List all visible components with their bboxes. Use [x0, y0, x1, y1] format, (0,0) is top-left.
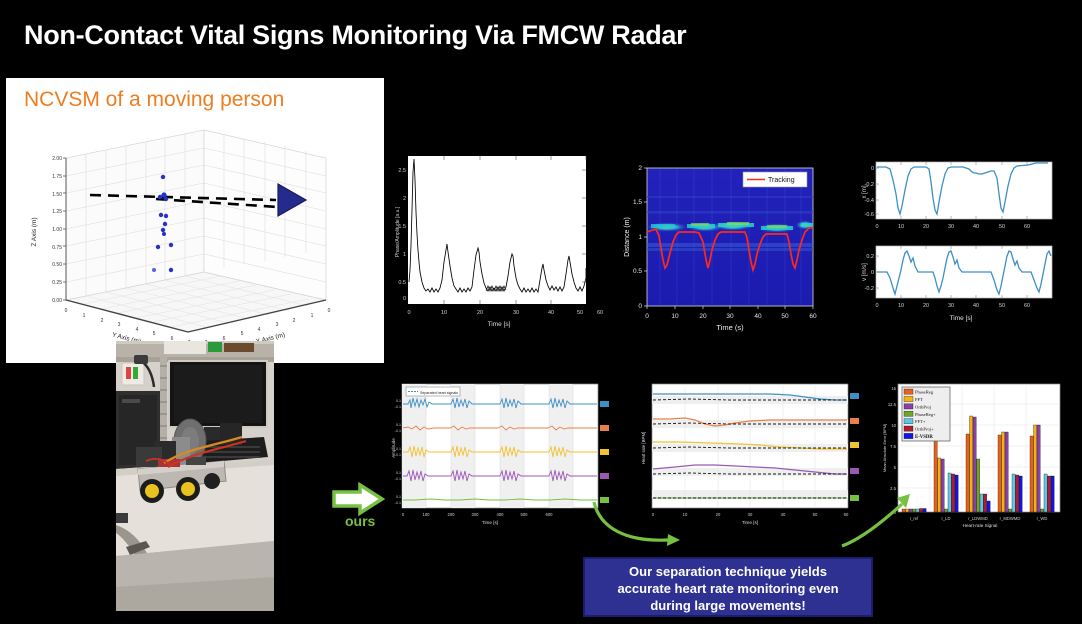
svg-text:2.00: 2.00 — [52, 156, 62, 162]
svg-text:0.25: 0.25 — [52, 280, 62, 286]
range-time-spectrogram-chart: Tracking 00.5 11.52 01020 304050 60 — [615, 150, 855, 334]
svg-text:0: 0 — [65, 308, 68, 314]
svg-text:30: 30 — [748, 512, 753, 517]
svg-text:2: 2 — [101, 318, 104, 324]
svg-text:1: 1 — [638, 234, 642, 241]
svg-text:0.1: 0.1 — [396, 495, 401, 499]
range-profile-chart: 2.5 2 1.5 1 0.5 0 0 10 20 30 40 50 60 Ti… — [392, 150, 607, 332]
bar-xtick-3: r_MDWMD — [1000, 516, 1021, 521]
axis-label-y: Phase/Amplitude [a.u.] — [395, 206, 401, 257]
heart-rate-estimates-chart: 01020 304050 60 Time [s] Heart rate [BPM… — [640, 378, 862, 526]
svg-text:0.5: 0.5 — [398, 280, 406, 286]
svg-text:400: 400 — [497, 512, 505, 517]
svg-text:60: 60 — [1024, 224, 1030, 230]
bar-xtick-2: r_LDWMD — [968, 516, 988, 521]
svg-text:0: 0 — [638, 303, 642, 310]
axis-label-x: Time [s] — [488, 321, 511, 328]
legend-label-1: FFT — [915, 397, 923, 402]
axis-label-x-velocity: Time [s] — [950, 315, 973, 322]
legend-label: Separated heart signals — [420, 391, 458, 395]
svg-text:40: 40 — [781, 512, 786, 517]
axis-label-x: Time [s] — [742, 520, 758, 525]
bar-xtick-0: r_ref — [910, 516, 919, 521]
svg-text:40: 40 — [548, 310, 554, 316]
legend-separated-signals: Separated heart signals — [406, 387, 460, 396]
svg-text:5: 5 — [153, 331, 156, 337]
svg-text:60: 60 — [844, 512, 849, 517]
axis-label-z: Z Axis (m) — [31, 217, 38, 246]
legend-label-2: OrthProj — [915, 404, 931, 409]
svg-text:-0.1: -0.1 — [395, 501, 401, 505]
legend-methods: PhaseReg FFT OrthProj PhaseReg+ FFT+ Ort… — [902, 387, 950, 441]
legend-label-0: PhaseReg — [915, 390, 934, 395]
svg-text:40: 40 — [973, 224, 979, 230]
svg-text:2.5: 2.5 — [890, 486, 896, 491]
svg-text:0.75: 0.75 — [52, 245, 62, 251]
svg-text:0: 0 — [875, 224, 878, 230]
svg-text:0.2: 0.2 — [866, 254, 874, 260]
svg-text:12.5: 12.5 — [888, 402, 897, 407]
svg-text:10: 10 — [441, 310, 447, 316]
svg-text:0.1: 0.1 — [396, 423, 401, 427]
conclusion-callout: Our separation technique yields accurate… — [583, 557, 873, 617]
svg-text:10: 10 — [891, 423, 896, 428]
svg-text:3: 3 — [276, 322, 279, 328]
svg-text:2: 2 — [403, 196, 406, 202]
svg-text:100: 100 — [423, 512, 431, 517]
callout-line-2: accurate heart rate monitoring even — [585, 580, 871, 597]
svg-text:-0.6: -0.6 — [865, 212, 874, 218]
svg-text:0: 0 — [403, 296, 406, 302]
page-title: Non-Contact Vital Signs Monitoring Via F… — [24, 20, 686, 51]
svg-text:40: 40 — [973, 303, 979, 309]
svg-text:20: 20 — [477, 310, 483, 316]
svg-text:0.1: 0.1 — [396, 447, 401, 451]
svg-text:-0.1: -0.1 — [395, 477, 401, 481]
svg-text:1.50: 1.50 — [52, 192, 62, 198]
bar-group-0 — [902, 509, 926, 513]
svg-text:20: 20 — [699, 313, 707, 320]
legend-label-3: PhaseReg+ — [915, 412, 936, 417]
axis-label-x: Heart-rate Signal — [963, 523, 998, 528]
svg-text:20: 20 — [923, 224, 929, 230]
svg-text:50: 50 — [999, 224, 1005, 230]
svg-text:1.00: 1.00 — [52, 227, 62, 233]
svg-text:-0.2: -0.2 — [865, 286, 874, 292]
svg-text:0.1: 0.1 — [396, 399, 401, 403]
svg-text:30: 30 — [726, 313, 734, 320]
axis-label-y-velocity: v [m/s] — [862, 263, 868, 281]
svg-text:1: 1 — [311, 313, 314, 319]
svg-text:2: 2 — [638, 165, 642, 172]
svg-text:0.5: 0.5 — [633, 268, 642, 275]
svg-text:-0.1: -0.1 — [395, 429, 401, 433]
separated-signals-chart: Separated heart signals 0.1-0.1 0.1-0.1 … — [390, 378, 612, 526]
svg-text:10: 10 — [671, 313, 679, 320]
svg-text:10: 10 — [683, 512, 688, 517]
slide-root: Non-Contact Vital Signs Monitoring Via F… — [0, 0, 1082, 624]
axis-label-y: Heart rate [BPM] — [641, 432, 646, 465]
svg-text:20: 20 — [716, 512, 721, 517]
svg-text:5: 5 — [241, 331, 244, 337]
svg-text:15: 15 — [891, 386, 896, 391]
svg-text:50: 50 — [781, 313, 789, 320]
svg-text:0: 0 — [328, 308, 331, 314]
axis-label-x: Time (s) — [716, 323, 744, 332]
legend-label-4: FFT+ — [915, 419, 926, 424]
svg-text:200: 200 — [448, 512, 456, 517]
svg-text:600: 600 — [546, 512, 554, 517]
axis-label-y: Amplitude — [391, 438, 396, 458]
svg-text:40: 40 — [754, 313, 762, 320]
scene-3d-chart: 0.00 0.25 0.50 0.75 1.00 1.25 1.50 1.75 … — [6, 120, 384, 350]
legend-label-tracking: Tracking — [768, 177, 795, 184]
bar-xtick-1: r_LD — [941, 516, 950, 521]
svg-text:30: 30 — [948, 303, 954, 309]
svg-text:4: 4 — [136, 327, 139, 333]
panel-subtitle: NCVSM of a moving person — [24, 88, 284, 112]
bar-xtick-4: r_WD — [1037, 516, 1048, 521]
svg-text:-0.1: -0.1 — [395, 405, 401, 409]
svg-text:2: 2 — [293, 318, 296, 324]
svg-text:0: 0 — [875, 303, 878, 309]
svg-text:30: 30 — [513, 310, 519, 316]
svg-text:60: 60 — [1024, 303, 1030, 309]
svg-text:7.5: 7.5 — [890, 444, 896, 449]
svg-text:1.5: 1.5 — [633, 199, 642, 206]
svg-text:20: 20 — [923, 303, 929, 309]
svg-text:50: 50 — [577, 310, 583, 316]
callout-line-1: Our separation technique yields — [585, 563, 871, 580]
svg-text:0: 0 — [407, 310, 410, 316]
legend-label-5: OrthProj+ — [915, 427, 934, 432]
axis-label-y: Distance (m) — [624, 217, 631, 257]
legend-label-6: E-VSDR — [915, 435, 933, 440]
svg-text:10: 10 — [898, 224, 904, 230]
svg-text:3: 3 — [118, 322, 121, 328]
scene-3d-panel: NCVSM of a moving person — [6, 78, 384, 363]
svg-text:4: 4 — [258, 327, 261, 333]
svg-text:300: 300 — [472, 512, 480, 517]
svg-text:1: 1 — [83, 313, 86, 319]
svg-text:1.75: 1.75 — [52, 174, 62, 180]
legend-tracking: Tracking — [743, 172, 807, 187]
svg-text:2.5: 2.5 — [398, 168, 406, 174]
svg-text:60: 60 — [597, 310, 603, 316]
callout-line-3: during large movements! — [585, 597, 871, 614]
svg-text:0: 0 — [871, 270, 874, 276]
axis-label-y: Mean Absolute Error [BPM] — [882, 424, 887, 472]
svg-text:0.50: 0.50 — [52, 262, 62, 268]
svg-text:50: 50 — [813, 512, 818, 517]
svg-text:50: 50 — [999, 303, 1005, 309]
svg-text:10: 10 — [898, 303, 904, 309]
svg-text:1: 1 — [403, 252, 406, 258]
axis-label-x: Time [s] — [482, 520, 498, 525]
svg-text:0.00: 0.00 — [52, 298, 62, 304]
axis-label-y-displacement: x [m] — [862, 185, 868, 198]
svg-text:60: 60 — [809, 313, 817, 320]
svg-text:30: 30 — [948, 224, 954, 230]
svg-text:500: 500 — [521, 512, 529, 517]
svg-text:0: 0 — [871, 166, 874, 172]
displacement-velocity-charts: 0-0.2 -0.4-0.6 01020 304050 60 x [m] — [856, 152, 1082, 334]
svg-text:0: 0 — [645, 313, 649, 320]
svg-text:1.25: 1.25 — [52, 209, 62, 215]
method-comparison-bar-chart: PhaseReg FFT OrthProj PhaseReg+ FFT+ Ort… — [880, 378, 1080, 528]
ours-label: ours — [345, 513, 375, 529]
svg-text:0.1: 0.1 — [396, 471, 401, 475]
lab-setup-photo — [116, 341, 274, 611]
